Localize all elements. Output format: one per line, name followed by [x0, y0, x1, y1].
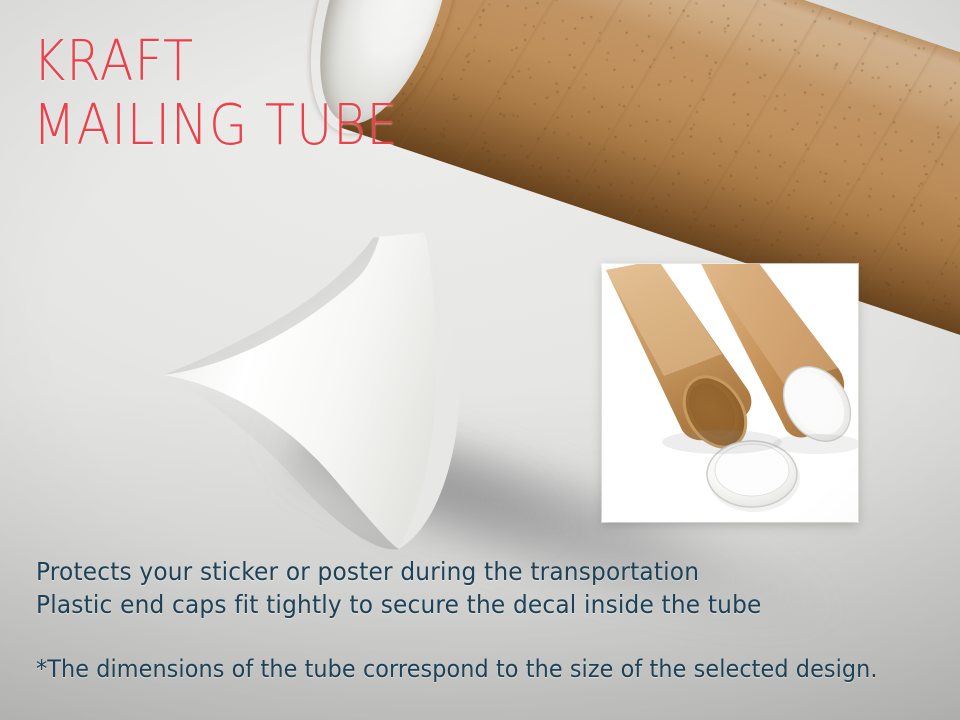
feature-line-2: Plastic end caps fit tightly to secure t… — [36, 589, 762, 622]
headline-line-1: KRAFT — [33, 29, 194, 94]
product-photo-inset — [602, 264, 858, 522]
feature-description: Protects your sticker or poster during t… — [36, 556, 762, 621]
headline-line-2: MAILING TUBE — [33, 94, 399, 158]
page-title: KRAFTMAILING TUBE — [33, 30, 399, 158]
feature-line-1: Protects your sticker or poster during t… — [36, 556, 762, 589]
footnote-disclaimer: *The dimensions of the tube correspond t… — [36, 655, 878, 683]
product-promo-slide: KRAFTMAILING TUBE Protects your sticker … — [0, 0, 960, 720]
